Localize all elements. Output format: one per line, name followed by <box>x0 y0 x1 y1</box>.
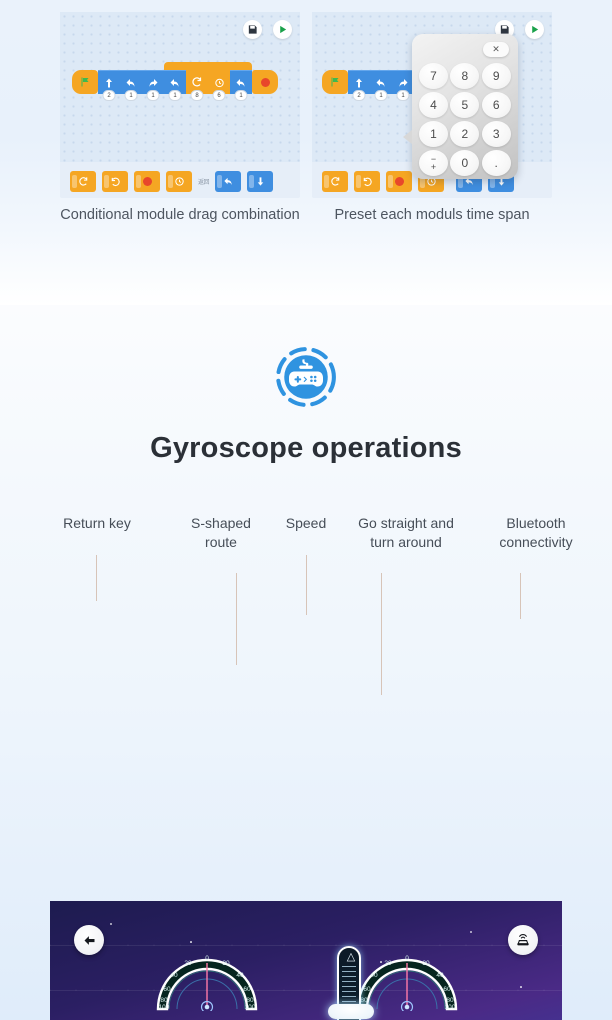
svg-text:20: 20 <box>384 960 392 967</box>
keypad-key-6[interactable]: 6 <box>482 92 511 118</box>
block-palette-left: 返回 <box>70 171 273 192</box>
right-gauge: 0 2020 4040 6060 8080 100100 <box>355 949 459 1011</box>
palette-undo-block[interactable] <box>354 171 380 192</box>
svg-text:0: 0 <box>405 955 409 962</box>
palette-move-down-block[interactable] <box>247 171 273 192</box>
block-badge: 1 <box>125 90 138 101</box>
keypad-key-3[interactable]: 3 <box>482 121 511 147</box>
svg-text:60: 60 <box>443 986 451 993</box>
block-badge: 1 <box>147 90 160 101</box>
start-flag-block[interactable] <box>72 70 98 94</box>
stop-block[interactable] <box>252 70 278 94</box>
svg-text:20: 20 <box>184 960 192 967</box>
block-script-left[interactable]: 2 1 1 1 <box>72 70 278 94</box>
keypad-key-0[interactable]: 0 <box>450 150 479 176</box>
page-root: 2 1 1 1 <box>0 0 612 1020</box>
svg-text:0: 0 <box>205 955 209 962</box>
turn-left-block[interactable]: 1 <box>120 70 142 94</box>
panel-tools-left <box>243 20 292 39</box>
block-badge: 2 <box>353 90 366 101</box>
turn-left-block[interactable]: 1 <box>370 70 392 94</box>
turn-left-block[interactable]: 1 <box>230 70 252 94</box>
move-block[interactable]: 2 <box>348 70 370 94</box>
palette-undo-block[interactable] <box>102 171 128 192</box>
caption-preset-time: Preset each moduls time span <box>312 205 552 225</box>
label-go-straight-turn-around: Go straight and turn around <box>336 514 476 552</box>
svg-text:100: 100 <box>245 1004 256 1011</box>
keypad-key-5[interactable]: 5 <box>450 92 479 118</box>
return-key-button[interactable] <box>74 925 104 955</box>
svg-text:60: 60 <box>363 986 371 993</box>
palette-stop-block[interactable] <box>386 171 412 192</box>
svg-text:40: 40 <box>370 972 378 979</box>
block-badge: 1 <box>375 90 388 101</box>
move-block[interactable]: 2 <box>98 70 120 94</box>
car-signal-icon <box>515 932 531 948</box>
keypad-key-2[interactable]: 2 <box>450 121 479 147</box>
hex-pattern <box>50 901 562 1020</box>
keypad-key-1[interactable]: 1 <box>419 121 448 147</box>
svg-text:80: 80 <box>160 997 168 1004</box>
label-return-key: Return key <box>32 514 162 533</box>
keypad-key-7[interactable]: 7 <box>419 63 448 89</box>
block-badge: 1 <box>235 90 248 101</box>
stop-dot-icon <box>395 177 404 186</box>
page-title: Gyroscope operations <box>0 432 612 465</box>
block-badge: 6 <box>213 90 226 101</box>
svg-text:80: 80 <box>360 997 368 1004</box>
conditional-panel: 2 1 1 1 <box>60 12 300 198</box>
leader-line <box>381 573 382 695</box>
top-label-row: Return key S-shaped route Speed Go strai… <box>0 505 612 565</box>
svg-text:100: 100 <box>445 1004 456 1011</box>
panel-captions: Conditional module drag combination Pres… <box>60 205 552 225</box>
stop-dot-icon <box>143 177 152 186</box>
chevron-up-icon: △ <box>339 950 363 963</box>
keypad-key-8[interactable]: 8 <box>450 63 479 89</box>
timer-block[interactable]: 6 <box>208 70 230 94</box>
svg-text:60: 60 <box>163 986 171 993</box>
block-badge: 1 <box>397 90 410 101</box>
bluetooth-connectivity-button[interactable] <box>508 925 538 955</box>
palette-stop-block[interactable] <box>134 171 160 192</box>
palette-timer-block[interactable] <box>166 171 192 192</box>
leader-line <box>520 573 521 619</box>
label-s-shaped-route: S-shaped route <box>166 514 276 552</box>
svg-text:20: 20 <box>222 960 230 967</box>
palette-repeat-block[interactable] <box>70 171 96 192</box>
start-flag-block[interactable] <box>322 70 348 94</box>
programming-section: 2 1 1 1 <box>0 0 612 305</box>
repeat-block[interactable]: 8 <box>186 70 208 94</box>
leader-line <box>236 573 237 665</box>
block-badge: 8 <box>191 90 204 101</box>
block-badge: 2 <box>103 90 116 101</box>
numeric-keypad[interactable]: ✕ 7 8 9 4 5 6 1 2 3 − + <box>412 34 518 179</box>
controller-screen[interactable]: 0 2020 4040 6060 8080 100100 <box>50 901 562 1020</box>
arrow-left-icon <box>82 933 97 948</box>
stop-dot-icon <box>261 78 270 87</box>
turn-right-block[interactable]: 1 <box>142 70 164 94</box>
gamepad-badge-icon <box>272 343 340 411</box>
label-speed: Speed <box>266 514 346 533</box>
save-icon[interactable] <box>243 20 262 39</box>
svg-text:20: 20 <box>422 960 430 967</box>
keypad-key-4[interactable]: 4 <box>419 92 448 118</box>
label-bluetooth-connectivity: Bluetooth connectivity <box>466 514 606 552</box>
keypad-key-dot[interactable]: . <box>482 150 511 176</box>
turn-right-block[interactable]: 1 <box>392 70 414 94</box>
svg-text:100: 100 <box>159 1004 170 1011</box>
keypad-key-9[interactable]: 9 <box>482 63 511 89</box>
svg-text:60: 60 <box>243 986 251 993</box>
block-badge: 1 <box>169 90 182 101</box>
palette-turn-left-block[interactable] <box>215 171 241 192</box>
palette-repeat-block[interactable] <box>322 171 348 192</box>
caption-conditional: Conditional module drag combination <box>60 205 300 225</box>
speed-slider[interactable]: △ ▽ <box>337 946 361 1020</box>
plus-glyph: + <box>431 163 436 171</box>
slider-thumb[interactable] <box>328 1004 374 1019</box>
svg-text:80: 80 <box>246 997 254 1004</box>
keypad-key-plus-minus[interactable]: − + <box>419 150 448 176</box>
svg-text:80: 80 <box>446 997 454 1004</box>
palette-note: 返回 <box>198 177 209 186</box>
svg-text:40: 40 <box>436 972 444 979</box>
gyroscope-section: Gyroscope operations Return key S-shaped… <box>0 305 612 1020</box>
play-icon[interactable] <box>273 20 292 39</box>
keypad-grid: 7 8 9 4 5 6 1 2 3 − + 0 . <box>419 63 511 176</box>
svg-text:40: 40 <box>170 972 178 979</box>
turn-left-block[interactable]: 1 <box>164 70 186 94</box>
preset-time-panel: 2 1 1 <box>312 12 552 198</box>
left-gauge: 0 2020 4040 6060 8080 100100 <box>155 949 259 1011</box>
leader-line <box>306 555 307 615</box>
leader-line <box>96 555 97 601</box>
svg-text:40: 40 <box>236 972 244 979</box>
close-icon[interactable]: ✕ <box>483 42 509 57</box>
play-icon[interactable] <box>525 20 544 39</box>
panel-row: 2 1 1 1 <box>60 12 552 198</box>
